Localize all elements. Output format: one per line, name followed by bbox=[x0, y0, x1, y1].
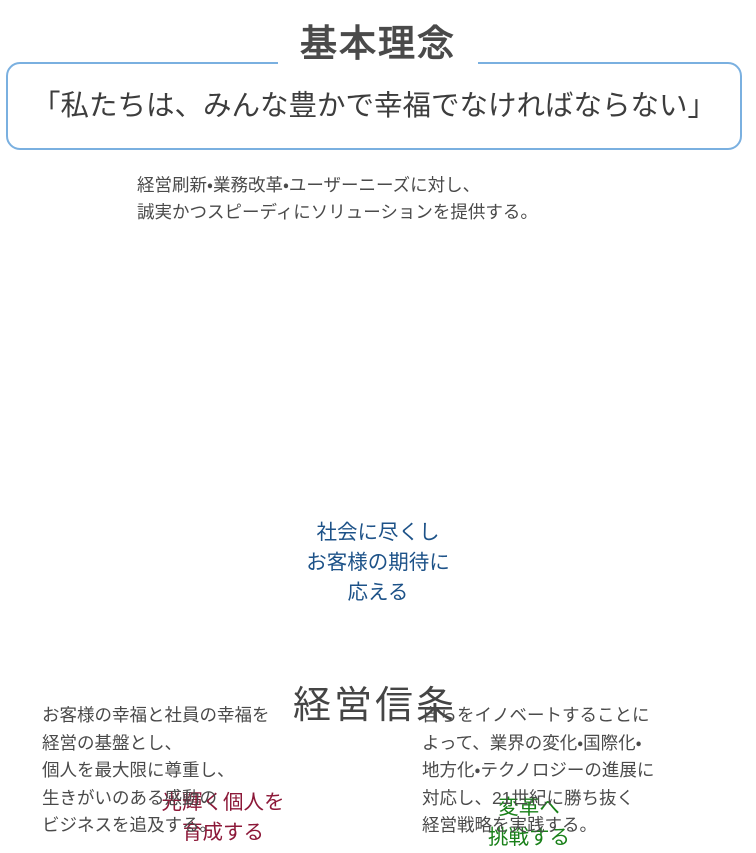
page-title: 基本理念 bbox=[0, 22, 756, 66]
creed-diagram: 社会に尽くし お客様の期待に 応える 光輝く個人を 育成する 変革へ 挑戦する … bbox=[0, 230, 756, 700]
note-people: お客様の幸福と社員の幸福を 経営の基盤とし、 個人を最大限に尊重し、 生きがいの… bbox=[42, 702, 372, 840]
mission-note: 経営刷新・業務改革・ユーザーニーズに対し、 誠実かつスピーディにソリューションを… bbox=[137, 172, 538, 226]
page-title-text: 基本理念 bbox=[278, 22, 478, 66]
philosophy-statement: 「私たちは、みんな豊かで幸福でなければならない」 bbox=[6, 86, 742, 126]
creed-diagram-svg bbox=[0, 230, 756, 700]
note-challenge: 自らをイノベートすることに よって、業界の変化・国際化・ 地方化・テクノロジーの… bbox=[422, 702, 752, 840]
philosophy-header: 基本理念 「私たちは、みんな豊かで幸福でなければならない」 bbox=[0, 0, 756, 160]
